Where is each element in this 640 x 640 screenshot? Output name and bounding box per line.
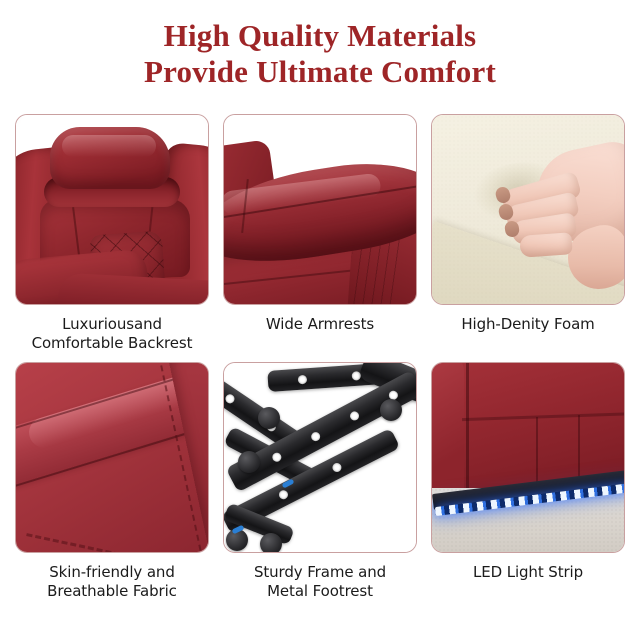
feature-cell-armrests: Wide Armrests [223, 114, 417, 353]
caption-backrest: Luxuriousand Comfortable Backrest [15, 315, 209, 353]
caption-frame: Sturdy Frame and Metal Footrest [223, 563, 417, 601]
page-title-line-1: High Quality Materials [164, 18, 477, 53]
frame-hole [348, 409, 360, 421]
page-title-line-2: Provide Ultimate Comfort [0, 54, 640, 90]
frame-pivot-joint [258, 407, 280, 429]
caption-armrests: Wide Armrests [223, 315, 417, 334]
frame-hole [331, 461, 343, 473]
caption-backrest-line-1: Luxuriousand [15, 315, 209, 334]
frame-pivot-joint [238, 451, 260, 473]
caption-foam: High-Denity Foam [431, 315, 625, 334]
feature-grid: Luxuriousand Comfortable Backrest Wide A… [15, 114, 625, 601]
hand-finger-pinky [519, 232, 572, 258]
frame-hole [224, 393, 236, 405]
caption-armrests-line-1: Wide Armrests [223, 315, 417, 334]
pressing-hand [500, 141, 625, 291]
frame-hole [298, 374, 308, 384]
frame-pivot-joint [380, 399, 402, 421]
backrest-photo [15, 114, 209, 305]
frame-pivot-joint [260, 533, 282, 553]
frame-hole [271, 451, 283, 463]
feature-cell-frame: Sturdy Frame and Metal Footrest [223, 362, 417, 601]
caption-backrest-line-2: Comfortable Backrest [15, 334, 209, 353]
armrest-photo [223, 114, 417, 305]
frame-hole [309, 430, 321, 442]
caption-frame-line-2: Metal Footrest [223, 582, 417, 601]
page-title: High Quality Materials Provide Ultimate … [0, 18, 640, 90]
feature-cell-backrest: Luxuriousand Comfortable Backrest [15, 114, 209, 353]
caption-fabric-line-1: Skin-friendly and [15, 563, 209, 582]
fabric-photo [15, 362, 209, 553]
caption-foam-line-1: High-Denity Foam [431, 315, 625, 334]
caption-led: LED Light Strip [431, 563, 625, 582]
caption-fabric-line-2: Breathable Fabric [15, 582, 209, 601]
backrest-headrest [50, 127, 170, 189]
led-photo [431, 362, 625, 553]
feature-cell-fabric: Skin-friendly and Breathable Fabric [15, 362, 209, 601]
foam-photo [431, 114, 625, 305]
frame-hole [277, 489, 289, 501]
led-sofa-side-panel [431, 362, 464, 503]
frame-photo [223, 362, 417, 553]
caption-fabric: Skin-friendly and Breathable Fabric [15, 563, 209, 601]
feature-cell-foam: High-Denity Foam [431, 114, 625, 353]
caption-led-line-1: LED Light Strip [431, 563, 625, 582]
feature-cell-led: LED Light Strip [431, 362, 625, 601]
product-feature-infographic: High Quality Materials Provide Ultimate … [0, 0, 640, 640]
caption-frame-line-1: Sturdy Frame and [223, 563, 417, 582]
